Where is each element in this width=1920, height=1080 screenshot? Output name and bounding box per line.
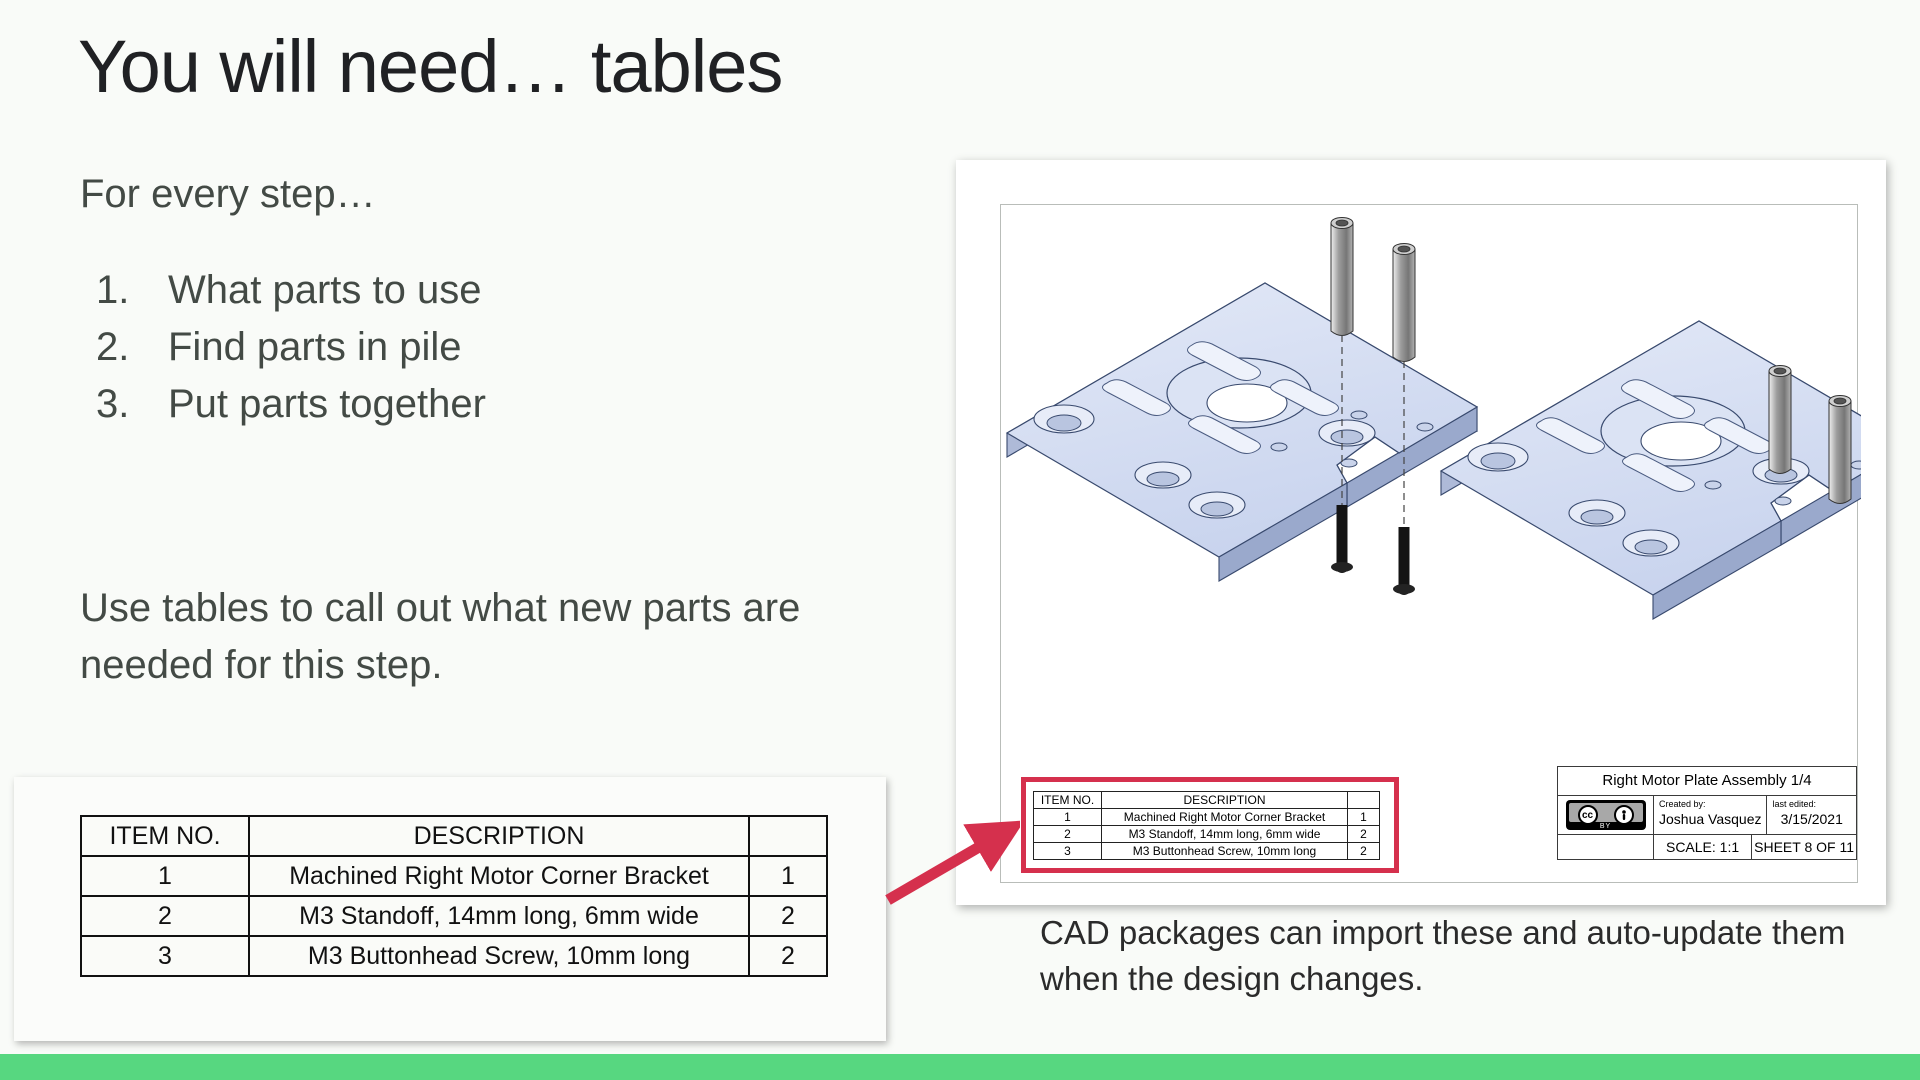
cell-qty: 2 (1348, 843, 1380, 860)
cad-embedded-bom-table: ITEM NO. DESCRIPTION 1 Machined Right Mo… (1033, 791, 1380, 860)
cad-drawing-frame: ITEM NO. DESCRIPTION 1 Machined Right Mo… (1000, 204, 1858, 883)
cell-description: M3 Buttonhead Screw, 10mm long (1102, 843, 1348, 860)
list-item: 3. Put parts together (96, 376, 756, 433)
table-row: 1 Machined Right Motor Corner Bracket 1 (1034, 809, 1380, 826)
cad-embedded-bom-wrapper: ITEM NO. DESCRIPTION 1 Machined Right Mo… (1033, 791, 1380, 860)
red-arrow-annotation (880, 820, 1020, 910)
last-edited-label: last edited: (1772, 799, 1851, 809)
m3-standoff-right-b (1829, 396, 1851, 504)
column-header-item-no: ITEM NO. (81, 816, 249, 856)
list-item: 2. Find parts in pile (96, 319, 756, 376)
cell-item-no: 3 (81, 936, 249, 976)
cell-qty: 2 (749, 936, 827, 976)
title-block-spacer (1558, 835, 1654, 859)
drawing-name: Right Motor Plate Assembly 1/4 (1558, 767, 1856, 796)
list-item-number: 1. (96, 262, 168, 319)
right-motor-plate (1441, 321, 1861, 619)
cell-description: M3 Standoff, 14mm long, 6mm wide (1102, 826, 1348, 843)
cell-qty: 2 (1348, 826, 1380, 843)
page-title: You will need… tables (78, 24, 782, 109)
scale-value: SCALE: 1:1 (1654, 835, 1752, 859)
list-item-label: What parts to use (168, 262, 481, 319)
cell-item-no: 2 (81, 896, 249, 936)
created-by-cell: Created by: Joshua Vasquez (1654, 796, 1767, 834)
title-block-middle-row: cc BY Created by: Joshua (1558, 796, 1856, 835)
column-header-qty (749, 816, 827, 856)
drawing-title-block: Right Motor Plate Assembly 1/4 cc (1557, 766, 1857, 860)
list-item-number: 3. (96, 376, 168, 433)
cell-description: Machined Right Motor Corner Bracket (249, 856, 749, 896)
bom-table-card: ITEM NO. DESCRIPTION 1 Machined Right Mo… (14, 777, 886, 1041)
creative-commons-by-icon: cc BY (1566, 800, 1646, 830)
created-by-value: Joshua Vasquez (1659, 809, 1761, 827)
m3-buttonhead-screw-left-b (1393, 527, 1415, 595)
title-block-bottom-row: SCALE: 1:1 SHEET 8 OF 11 (1558, 835, 1856, 859)
table-row: 3 M3 Buttonhead Screw, 10mm long 2 (81, 936, 827, 976)
column-header-qty (1348, 792, 1380, 809)
body-paragraph: Use tables to call out what new parts ar… (80, 580, 940, 694)
list-item-label: Put parts together (168, 376, 486, 433)
sheet-value: SHEET 8 OF 11 (1752, 835, 1856, 859)
cell-item-no: 2 (1034, 826, 1102, 843)
table-row: 2 M3 Standoff, 14mm long, 6mm wide 2 (81, 896, 827, 936)
m3-buttonhead-screw-left-a (1331, 505, 1353, 573)
caption-text: CAD packages can import these and auto-u… (1040, 910, 1880, 1002)
cell-qty: 2 (749, 896, 827, 936)
cell-description: Machined Right Motor Corner Bracket (1102, 809, 1348, 826)
table-row: 3 M3 Buttonhead Screw, 10mm long 2 (1034, 843, 1380, 860)
cad-drawing-panel: ITEM NO. DESCRIPTION 1 Machined Right Mo… (956, 160, 1886, 905)
table-header-row: ITEM NO. DESCRIPTION (81, 816, 827, 856)
cell-item-no: 3 (1034, 843, 1102, 860)
column-header-item-no: ITEM NO. (1034, 792, 1102, 809)
cc-circle-icon: cc (1578, 805, 1598, 825)
footer-accent-bar (0, 1054, 1920, 1080)
m3-standoff-right-a (1769, 366, 1791, 474)
person-glyph (1618, 809, 1630, 821)
cc-by-label: BY (1566, 823, 1646, 830)
cell-item-no: 1 (81, 856, 249, 896)
table-row: 2 M3 Standoff, 14mm long, 6mm wide 2 (1034, 826, 1380, 843)
table-header-row: ITEM NO. DESCRIPTION (1034, 792, 1380, 809)
cell-item-no: 1 (1034, 809, 1102, 826)
list-item: 1. What parts to use (96, 262, 756, 319)
steps-list: 1. What parts to use 2. Find parts in pi… (96, 262, 756, 433)
cell-qty: 1 (749, 856, 827, 896)
cell-description: M3 Buttonhead Screw, 10mm long (249, 936, 749, 976)
slide-canvas: You will need… tables For every step… 1.… (0, 0, 1920, 1080)
attribution-person-icon (1614, 805, 1634, 825)
lead-in-text: For every step… (80, 172, 376, 217)
list-item-number: 2. (96, 319, 168, 376)
column-header-description: DESCRIPTION (249, 816, 749, 856)
last-edited-value: 3/15/2021 (1772, 809, 1851, 827)
m3-standoff-left-b (1393, 244, 1415, 362)
created-by-label: Created by: (1659, 799, 1761, 809)
column-header-description: DESCRIPTION (1102, 792, 1348, 809)
list-item-label: Find parts in pile (168, 319, 461, 376)
m3-standoff-left-a (1331, 218, 1353, 336)
cell-description: M3 Standoff, 14mm long, 6mm wide (249, 896, 749, 936)
last-edited-cell: last edited: 3/15/2021 (1767, 796, 1856, 834)
table-row: 1 Machined Right Motor Corner Bracket 1 (81, 856, 827, 896)
cell-qty: 1 (1348, 809, 1380, 826)
cc-license-cell: cc BY (1558, 796, 1654, 834)
bom-table: ITEM NO. DESCRIPTION 1 Machined Right Mo… (80, 815, 828, 977)
isometric-assembly-drawing (1001, 205, 1861, 675)
